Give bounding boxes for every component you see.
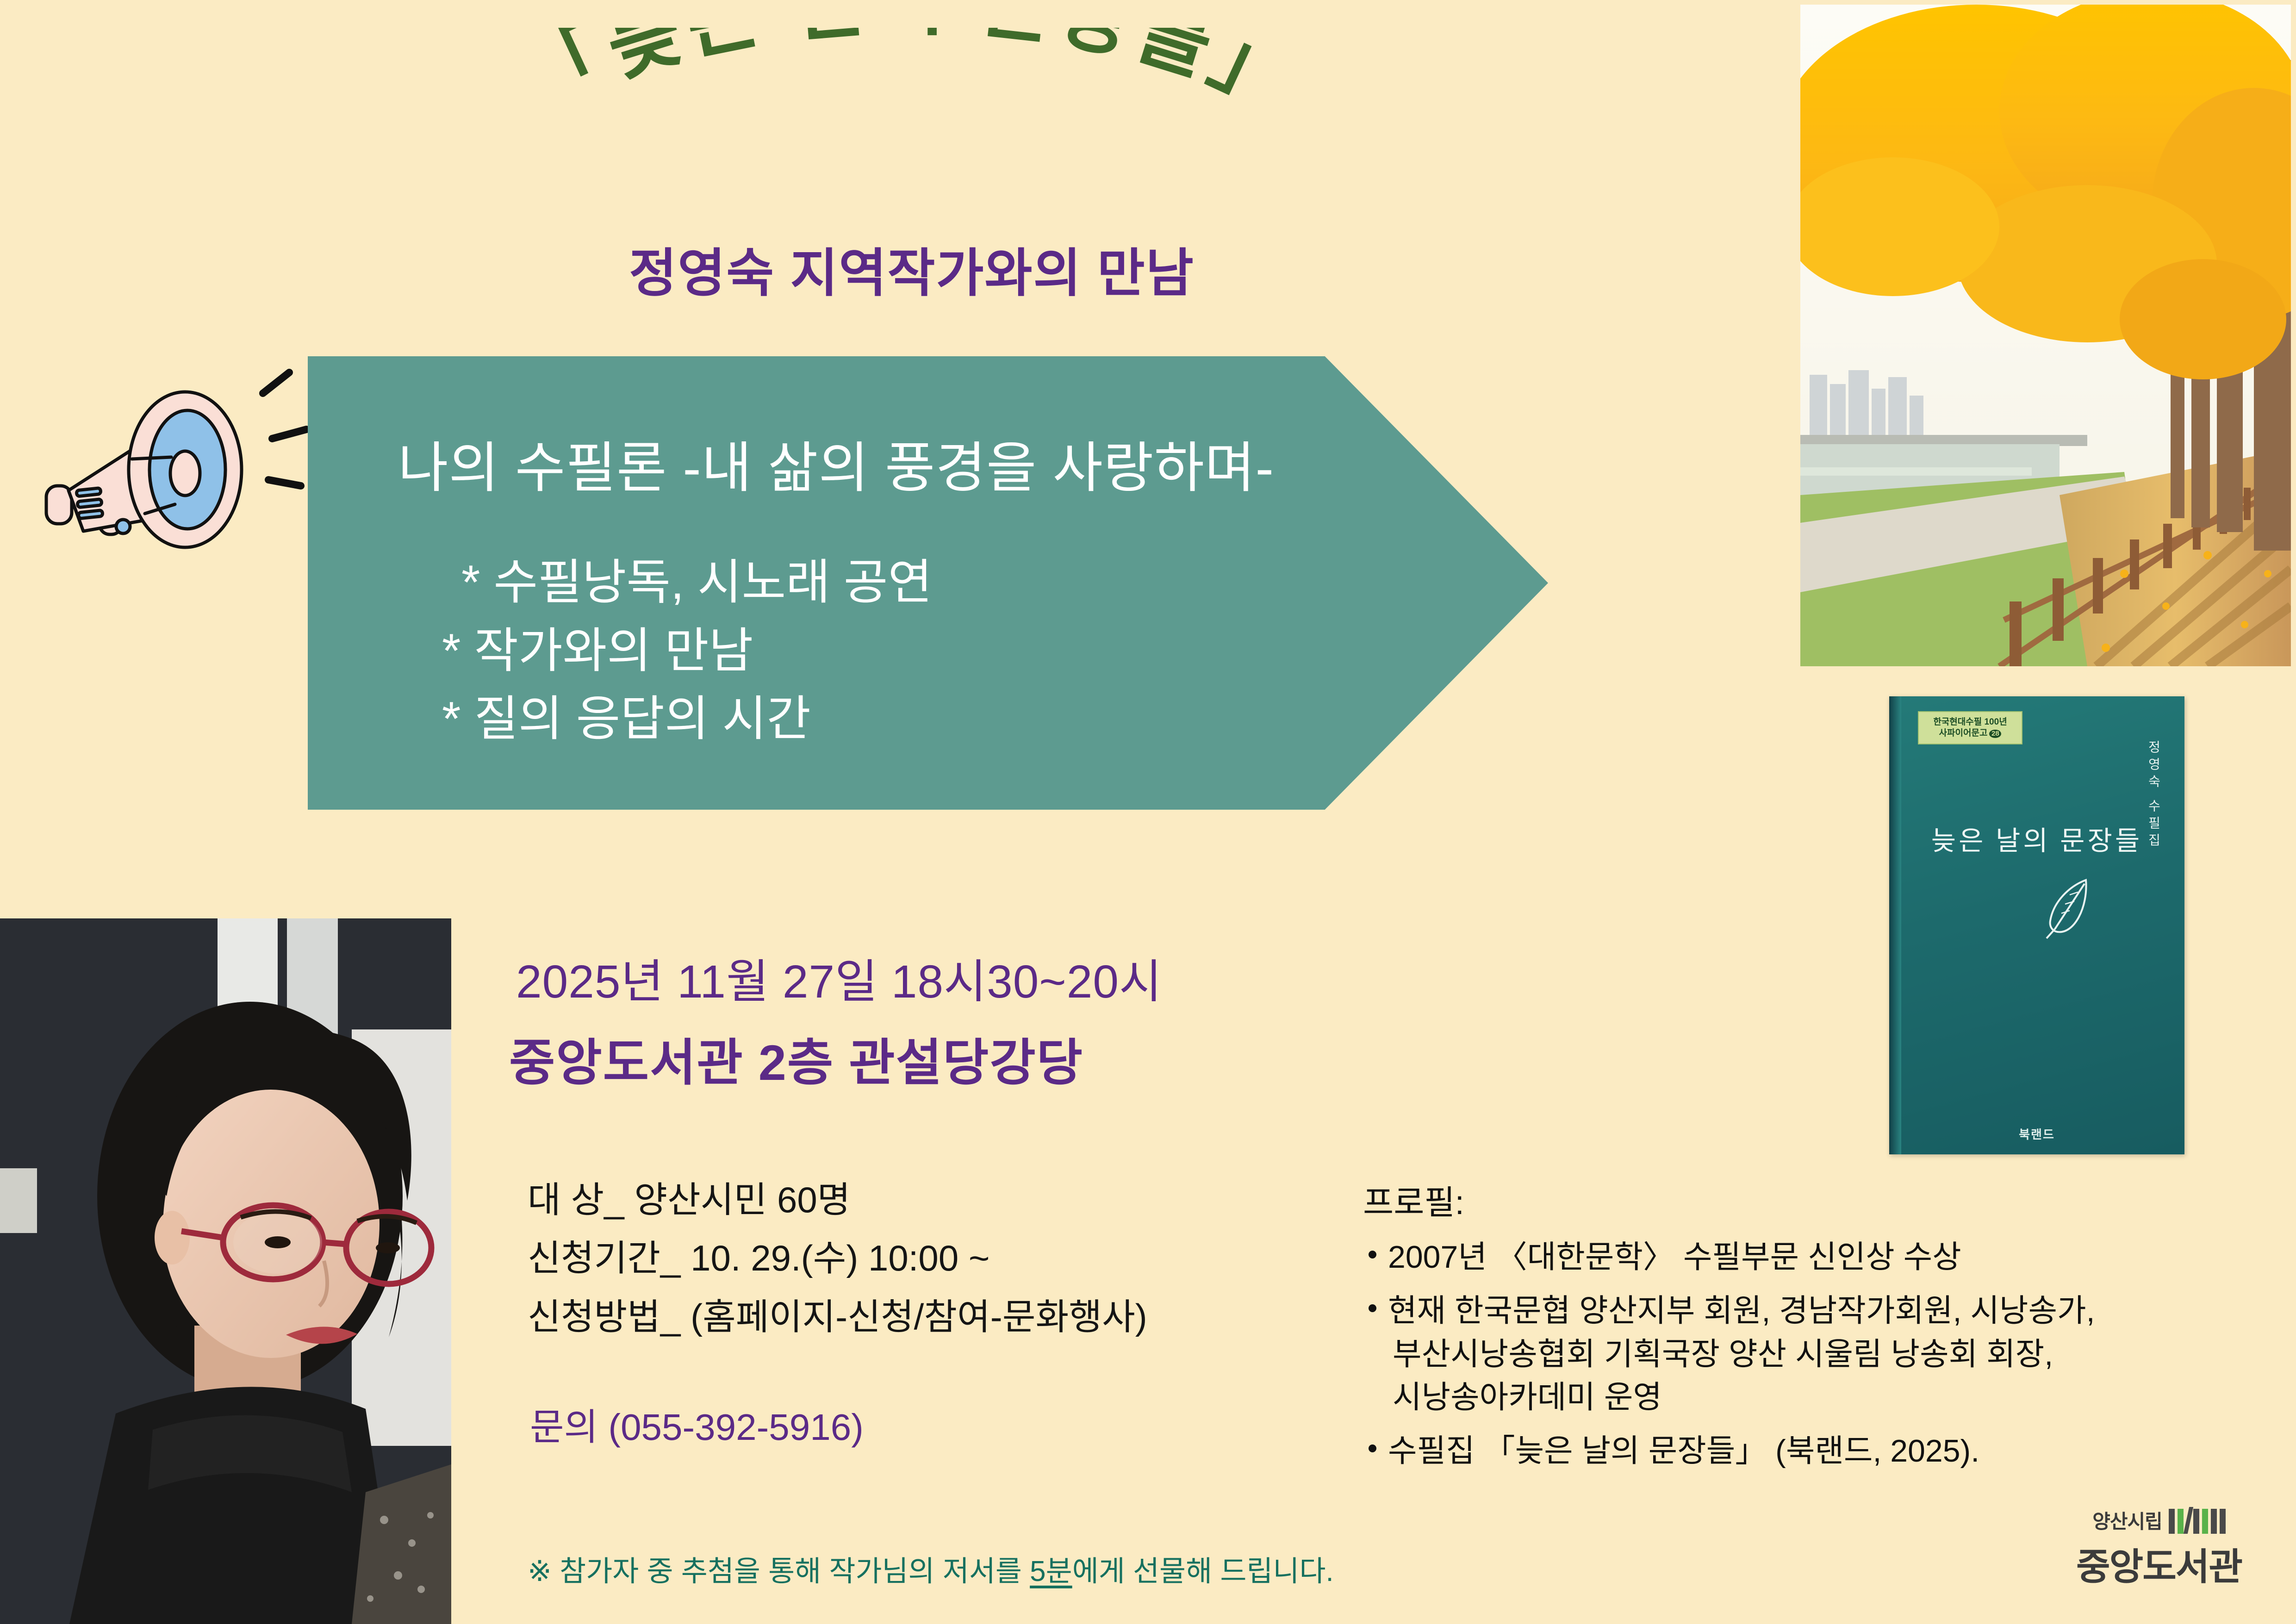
detail-row-audience: 대 상_ 양산시민 60명 xyxy=(528,1171,1147,1229)
book-title: 늦은 날의 문장들 xyxy=(1889,819,2184,858)
giveaway-note-suffix: 에게 선물해 드립니다. xyxy=(1072,1556,1334,1587)
svg-text:「늦은 날의 문장들」: 「늦은 날의 문장들」 xyxy=(511,28,1313,126)
banner-item-0: * 수필낭독, 시노래 공연 xyxy=(461,549,932,617)
giveaway-note-emphasis: 5분 xyxy=(1030,1556,1072,1587)
profile-label: 프로필: xyxy=(1363,1175,2205,1224)
sticker-number: 28 xyxy=(1989,730,2001,738)
page-subtitle: 정영숙 지역작가와의 만남 xyxy=(389,231,1435,306)
logo-library-name: 중앙도서관 xyxy=(2043,1537,2275,1591)
book-publisher: 북랜드 xyxy=(1889,1125,2184,1142)
poster-root: 「늦은 날의 문장들」 정영숙 지역작가와의 만남 xyxy=(0,0,2296,1624)
book-spine xyxy=(1889,696,1901,1154)
giveaway-note-prefix: ※ 참가자 중 추첨을 통해 작가님의 저서를 xyxy=(528,1556,1030,1587)
book-series-sticker: 한국현대수필 100년 사파이어문고28 xyxy=(1918,711,2022,744)
event-location: 중앙도서관 2층 관설당강당 xyxy=(509,1023,1083,1095)
book-cover-image: 한국현대수필 100년 사파이어문고28 늦은 날의 문장들 정영숙 수필집 북… xyxy=(1889,696,2184,1154)
sticker-imprint-label: 사파이어문고 xyxy=(1939,728,1988,738)
profile-item-2-line-0: 수필집 「늦은 날의 문장들」 (북랜드, 2025). xyxy=(1388,1433,1979,1469)
author-profile: 프로필: 2007년 〈대한문학〉 수필부문 신인상 수상 현재 한국문협 양산… xyxy=(1363,1175,2205,1483)
banner-item-list: * 수필낭독, 시노래 공연 * 작가와의 만남 * 질의 응답의 시간 xyxy=(423,549,932,754)
profile-item-0-line-0: 2007년 〈대한문학〉 수필부문 신인상 수상 xyxy=(1388,1240,1961,1275)
contact-phone[interactable]: 문의 (055-392-5916) xyxy=(530,1397,864,1451)
profile-list: 2007년 〈대한문학〉 수필부문 신인상 수상 현재 한국문협 양산지부 회원… xyxy=(1363,1236,2205,1473)
banner-item-1: * 작가와의 만남 xyxy=(442,617,932,686)
book-spines-icon xyxy=(2169,1507,2226,1534)
giveaway-note: ※ 참가자 중 추첨을 통해 작가님의 저서를 5분에게 선물해 드립니다. xyxy=(528,1548,1334,1589)
megaphone-icon xyxy=(32,352,310,560)
page-title: 「늦은 날의 문장들」 xyxy=(380,28,1444,245)
banner-item-2: * 질의 응답의 시간 xyxy=(442,685,932,754)
profile-item-0: 2007년 〈대한문학〉 수필부문 신인상 수상 xyxy=(1388,1236,2205,1279)
profile-item-2: 수필집 「늦은 날의 문장들」 (북랜드, 2025). xyxy=(1388,1430,2205,1473)
registration-details: 대 상_ 양산시민 60명 신청기간_ 10. 29.(수) 10:00 ~ 신… xyxy=(528,1171,1147,1346)
sound-lines-icon xyxy=(263,372,306,486)
detail-row-method: 신청방법_ (홈페이지-신청/참여-문화행사) xyxy=(528,1288,1147,1346)
program-banner: 나의 수필론 -내 삶의 풍경을 사랑하며- * 수필낭독, 시노래 공연 * … xyxy=(308,356,1548,810)
sticker-series-label: 한국현대수필 100년 xyxy=(1933,717,2007,728)
profile-item-1-line-2: 시낭송아카데미 운영 xyxy=(1388,1376,2205,1419)
book-author-vertical: 정영숙 수필집 xyxy=(2144,740,2162,850)
profile-item-1-line-1: 부산시낭송협회 기획국장 양산 시울림 낭송회 회장, xyxy=(1388,1333,2205,1376)
autumn-ginkgo-photo xyxy=(1800,5,2291,666)
library-logo: 양산시립 중앙도서관 xyxy=(2043,1506,2275,1605)
event-datetime: 2025년 11월 27일 18시30~20시 xyxy=(516,944,1162,1011)
banner-heading: 나의 수필론 -내 삶의 풍경을 사랑하며- xyxy=(398,423,1274,502)
feather-icon xyxy=(2042,874,2093,942)
logo-city-label: 양산시립 xyxy=(2092,1506,2162,1534)
profile-item-1-line-0: 현재 한국문협 양산지부 회원, 경남작가회원, 시낭송가, xyxy=(1388,1293,2095,1328)
page-title-text: 「늦은 날의 문장들」 xyxy=(511,28,1313,126)
author-portrait-photo xyxy=(0,918,451,1624)
detail-row-period: 신청기간_ 10. 29.(수) 10:00 ~ xyxy=(528,1229,1147,1287)
profile-item-1: 현재 한국문협 양산지부 회원, 경남작가회원, 시낭송가, 부산시낭송협회 기… xyxy=(1388,1289,2205,1419)
